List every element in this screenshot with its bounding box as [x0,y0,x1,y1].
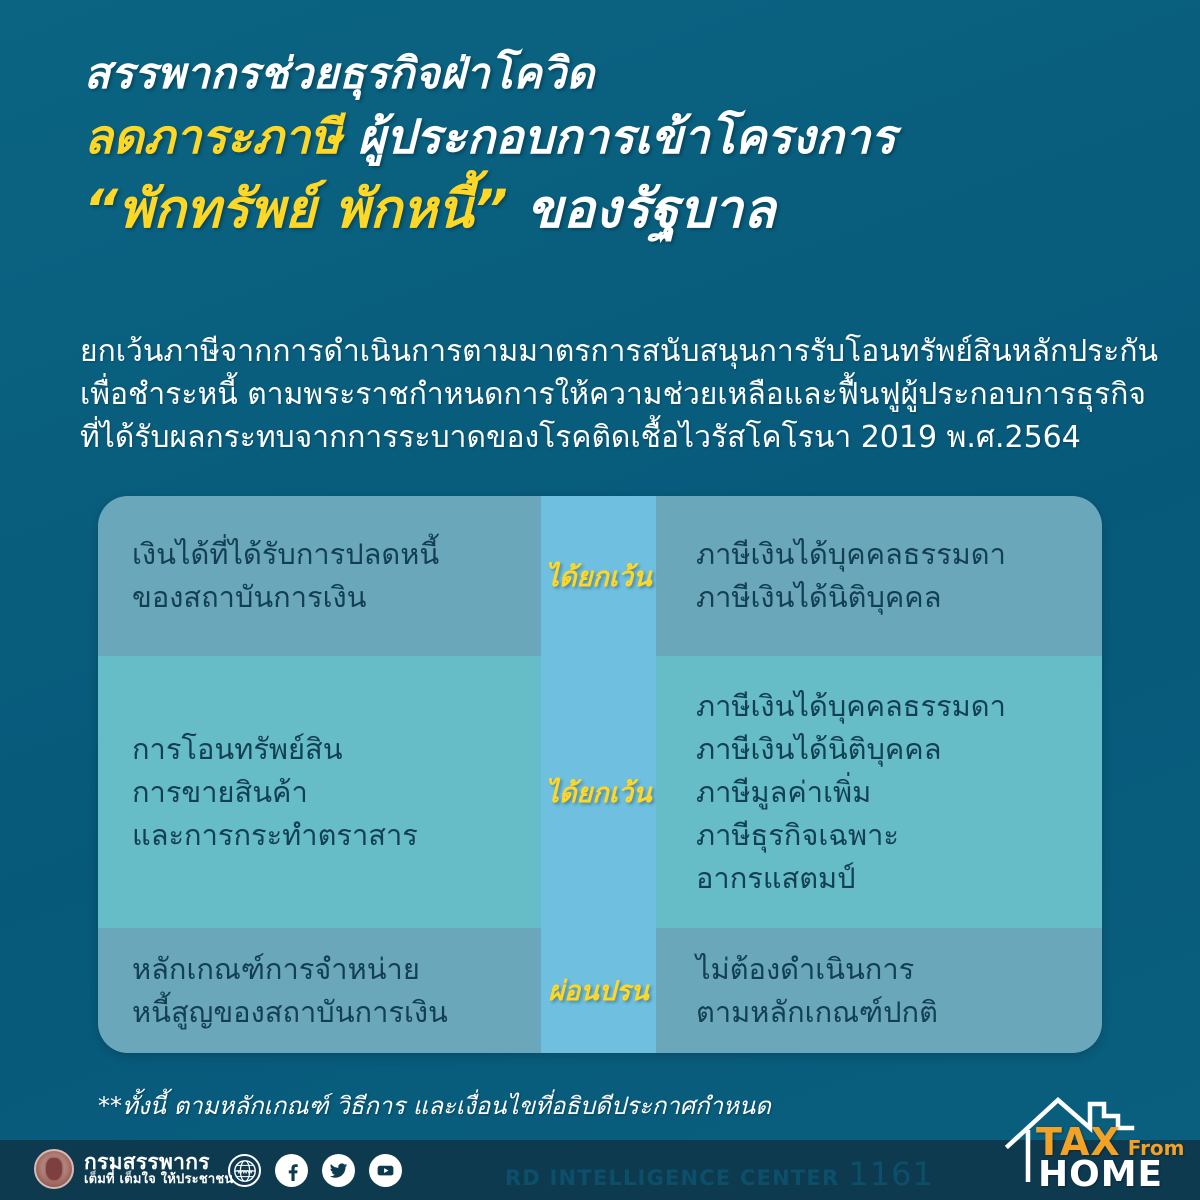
tax-line: ภาษีเงินได้บุคคลธรรมดา [696,685,1084,728]
table-row: หลักเกณฑ์การจำหน่าย หนี้สูญของสถาบันการเ… [98,928,1102,1053]
subject-line: และการกระทำตราสาร [132,814,541,857]
logo-home-text: HOME [1038,1154,1163,1195]
infographic-poster: สรรพากรช่วยธุรกิจฝ่าโควิด ลดภาระภาษี ผู้… [0,0,1200,1200]
intro-line-3: ที่ได้รับผลกระทบจากการระบาดของโรคติดเชื้… [80,416,1140,459]
table-cell-taxes: ภาษีเงินได้บุคคลธรรมดา ภาษีเงินได้นิติบุ… [656,656,1102,928]
status-badge: ได้ยกเว้น [545,555,651,598]
subject-line: ของสถาบันการเงิน [132,576,541,619]
intro-line-2: เพื่อชำระหนี้ ตามพระราชกำหนดการให้ความช่… [80,373,1140,416]
table-cell-taxes: ไม่ต้องดำเนินการ ตามหลักเกณฑ์ปกติ [656,928,1102,1053]
garuda-seal-icon [34,1149,74,1189]
table-row: การโอนทรัพย์สิน การขายสินค้า และการกระทำ… [98,656,1102,928]
table-cell-subject: การโอนทรัพย์สิน การขายสินค้า และการกระทำ… [98,656,541,928]
youtube-icon[interactable] [369,1154,402,1187]
hotline-number: 1161 [848,1155,933,1193]
intro-line-1: ยกเว้นภาษีจากการดำเนินการตามมาตรการสนับส… [80,330,1140,373]
headline-line-2-highlight: ลดภาระภาษี [84,110,341,165]
tax-from-home-logo: TAX From HOME [986,1078,1166,1190]
subject-line: การขายสินค้า [132,771,541,814]
tax-line: ตามหลักเกณฑ์ปกติ [696,991,1084,1034]
table-cell-status: ผ่อนปรน [541,928,656,1053]
status-badge: ผ่อนปรน [548,969,649,1012]
headline-line-3-highlight: “พักทรัพย์ พักหนี้” [84,179,508,240]
headline-line-2: ลดภาระภาษี ผู้ประกอบการเข้าโครงการ [84,104,1124,172]
subject-line: เงินได้ที่ได้รับการปลดหนี้ [132,533,541,576]
tax-line: ไม่ต้องดำเนินการ [696,948,1084,991]
tax-line: ภาษีมูลค่าเพิ่ม [696,771,1084,814]
table-row: เงินได้ที่ได้รับการปลดหนี้ ของสถาบันการเ… [98,496,1102,656]
footer-bar: กรมสรรพากร เต็มที่ เต็มใจ ให้ประชาชน www [0,1140,1200,1200]
org-slogan: เต็มที่ เต็มใจ ให้ประชาชน [84,1173,233,1187]
facebook-icon[interactable] [275,1154,308,1187]
svg-text:www: www [236,1168,252,1175]
headline-line-2-rest: ผู้ประกอบการเข้าโครงการ [358,110,896,165]
subject-line: หลักเกณฑ์การจำหน่าย [132,948,541,991]
tax-line: ภาษีเงินได้นิติบุคคล [696,576,1084,619]
headline-line-3-rest: ของรัฐบาล [527,179,776,240]
table-cell-taxes: ภาษีเงินได้บุคคลธรรมดา ภาษีเงินได้นิติบุ… [656,496,1102,656]
hotline-label: RD INTELLIGENCE CENTER [505,1166,839,1190]
tax-line: ภาษีเงินได้นิติบุคคล [696,728,1084,771]
intro-paragraph: ยกเว้นภาษีจากการดำเนินการตามมาตรการสนับส… [80,330,1140,459]
table-cell-status: ได้ยกเว้น [541,656,656,928]
footnote-text: **ทั้งนี้ ตามหลักเกณฑ์ วิธีการ และเงื่อน… [98,1086,771,1125]
table-cell-subject: หลักเกณฑ์การจำหน่าย หนี้สูญของสถาบันการเ… [98,928,541,1053]
tax-line: อากรแสตมป์ [696,857,1084,900]
revenue-department-logo: กรมสรรพากร เต็มที่ เต็มใจ ให้ประชาชน [34,1149,233,1189]
tax-line: ภาษีเงินได้บุคคลธรรมดา [696,533,1084,576]
subject-line: การโอนทรัพย์สิน [132,728,541,771]
headline-line-1: สรรพากรช่วยธุรกิจฝ่าโควิด [84,44,1124,104]
hotline-info: RD INTELLIGENCE CENTER 1161 [505,1155,934,1193]
headline-line-3: “พักทรัพย์ พักหนี้” ของรัฐบาล [84,172,1124,248]
twitter-icon[interactable] [322,1154,355,1187]
headline-block: สรรพากรช่วยธุรกิจฝ่าโควิด ลดภาระภาษี ผู้… [84,44,1124,248]
table-cell-subject: เงินได้ที่ได้รับการปลดหนี้ ของสถาบันการเ… [98,496,541,656]
website-www-icon[interactable]: www [228,1154,261,1187]
benefits-table: เงินได้ที่ได้รับการปลดหนี้ ของสถาบันการเ… [98,496,1102,1053]
subject-line: หนี้สูญของสถาบันการเงิน [132,991,541,1034]
org-name: กรมสรรพากร [84,1151,233,1173]
status-badge: ได้ยกเว้น [545,771,651,814]
table-cell-status: ได้ยกเว้น [541,496,656,656]
social-links: www [228,1154,402,1187]
tax-line: ภาษีธุรกิจเฉพาะ [696,814,1084,857]
